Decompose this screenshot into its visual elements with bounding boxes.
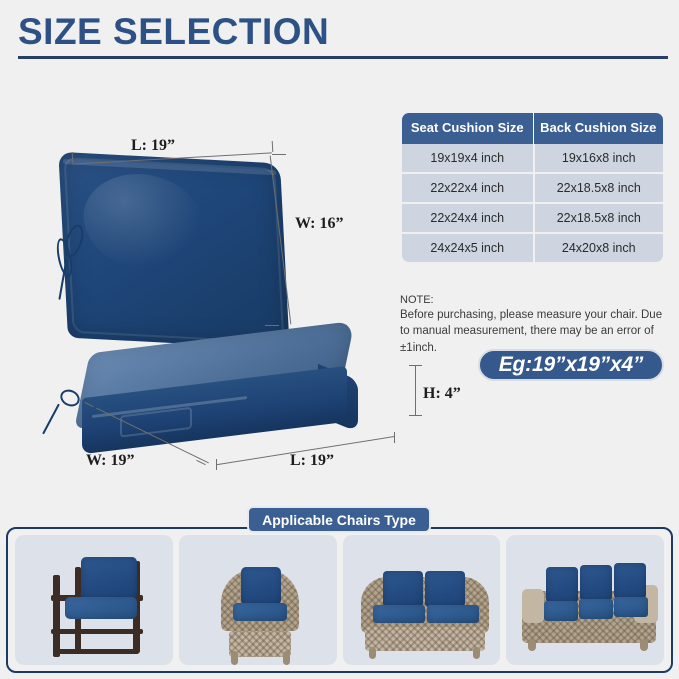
chair-panel-wicker-loveseat xyxy=(343,535,501,665)
table-row: 22x22x4 inch 22x18.5x8 inch xyxy=(402,174,663,204)
cell-back-size: 19x16x8 inch xyxy=(533,144,664,172)
dimension-cap-back-width-bottom xyxy=(265,325,279,326)
dimension-label-seat-length: L: 19” xyxy=(290,452,334,470)
chair-panel-wicker-armchair xyxy=(179,535,337,665)
dimension-label-seat-width: W: 19” xyxy=(86,452,134,470)
cell-back-size: 24x20x8 inch xyxy=(533,234,664,262)
table-header-seat: Seat Cushion Size xyxy=(402,113,533,144)
note-label: NOTE: xyxy=(400,294,672,306)
dimension-cap-seat-length-end xyxy=(394,432,395,443)
dimension-line-seat-height xyxy=(415,365,416,415)
table-header-back: Back Cushion Size xyxy=(533,113,664,144)
cushion-illustration xyxy=(0,120,400,495)
title-divider xyxy=(18,56,668,59)
table-row: 22x24x4 inch 22x18.5x8 inch xyxy=(402,204,663,234)
tie-strap-tail-seat xyxy=(42,404,60,435)
cell-seat-size: 24x24x5 inch xyxy=(402,234,533,262)
table-row: 19x19x4 inch 19x16x8 inch xyxy=(402,144,663,174)
applicable-chairs-banner: Applicable Chairs Type xyxy=(247,506,431,533)
size-table: Seat Cushion Size Back Cushion Size 19x1… xyxy=(402,113,663,262)
dimension-cap-seat-length-start xyxy=(216,459,217,470)
cell-back-size: 22x18.5x8 inch xyxy=(533,204,664,232)
chair-panel-wicker-sofa-3-seat xyxy=(506,535,664,665)
title-block: SIZE SELECTION xyxy=(0,0,679,70)
table-header-row: Seat Cushion Size Back Cushion Size xyxy=(402,113,663,144)
cell-back-size: 22x18.5x8 inch xyxy=(533,174,664,202)
example-size-badge: Eg:19”x19”x4” xyxy=(478,349,664,381)
note-block: NOTE: Before purchasing, please measure … xyxy=(400,294,672,356)
cell-seat-size: 22x22x4 inch xyxy=(402,174,533,202)
dimension-cap-seat-height-bottom xyxy=(409,415,422,416)
dimension-cap-seat-height-top xyxy=(409,365,422,366)
dimension-label-seat-height: H: 4” xyxy=(423,385,461,403)
cell-seat-size: 22x24x4 inch xyxy=(402,204,533,232)
dimension-label-back-length: L: 19” xyxy=(131,137,175,155)
back-cushion-graphic xyxy=(58,152,289,349)
chair-panel-wood-frame-armchair xyxy=(15,535,173,665)
cell-seat-size: 19x19x4 inch xyxy=(402,144,533,172)
dimension-label-back-width: W: 16” xyxy=(295,215,343,233)
page-title: SIZE SELECTION xyxy=(18,11,329,53)
table-row: 24x24x5 inch 24x20x8 inch xyxy=(402,234,663,262)
dimension-cap-back-width-top xyxy=(272,154,286,155)
applicable-chairs-frame xyxy=(6,527,673,673)
